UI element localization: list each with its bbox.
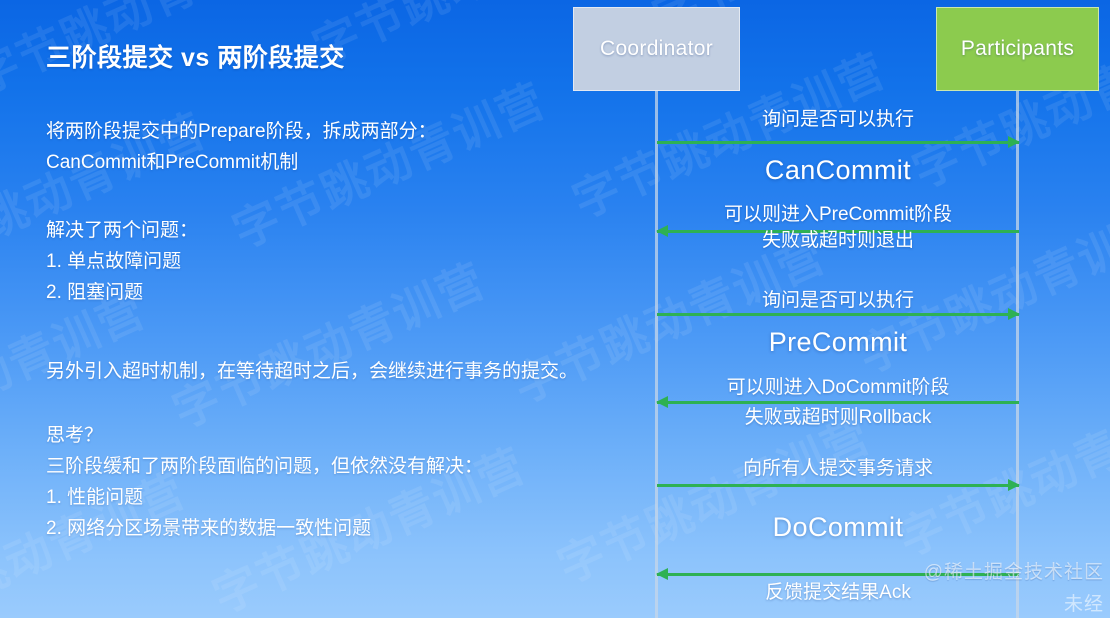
- phase-label-precommit: PreCommit: [657, 327, 1019, 358]
- intro-line-2: CanCommit和PreCommit机制: [46, 147, 437, 178]
- corner-watermark-line-1: @稀土掘金技术社区: [924, 557, 1104, 584]
- intro-line-1: 将两阶段提交中的Prepare阶段，拆成两部分：: [46, 116, 437, 147]
- open-questions-item-1: 1. 性能问题: [46, 482, 483, 513]
- timeout-paragraph: 另外引入超时机制，在等待超时之后，会继续进行事务的提交。: [46, 356, 578, 387]
- slide-canvas: 字节跳动青训营 字节跳动青训营 字节跳动青训营 字节跳动青训营 字节跳动青训营 …: [0, 0, 1110, 618]
- message-label-5: 向所有人提交事务请求: [657, 456, 1019, 482]
- message-label-1: 询问是否可以执行: [657, 107, 1019, 133]
- open-questions-item-2: 2. 网络分区场景带来的数据一致性问题: [46, 513, 483, 544]
- actor-label-participants: Participants: [961, 37, 1074, 61]
- solved-problems-item-1: 1. 单点故障问题: [46, 246, 198, 277]
- actor-box-coordinator: Coordinator: [573, 7, 740, 91]
- solved-problems-block: 解决了两个问题： 1. 单点故障问题 2. 阻塞问题: [46, 215, 198, 308]
- timeout-line-1: 另外引入超时机制，在等待超时之后，会继续进行事务的提交。: [46, 356, 578, 387]
- page-title: 三阶段提交 vs 两阶段提交: [46, 38, 345, 74]
- message-label-3: 询问是否可以执行: [657, 288, 1019, 314]
- message-label-4-line-1: 可以则进入DoCommit阶段: [657, 375, 1019, 401]
- sequence-diagram: Coordinator Participants 询问是否可以执行 CanCom…: [560, 0, 1110, 618]
- intro-paragraph: 将两阶段提交中的Prepare阶段，拆成两部分： CanCommit和PreCo…: [46, 116, 437, 178]
- open-questions-heading: 思考？: [46, 420, 483, 451]
- message-arrow-1: [657, 141, 1019, 144]
- message-label-2-line-1: 可以则进入PreCommit阶段: [657, 202, 1019, 228]
- solved-problems-heading: 解决了两个问题：: [46, 215, 198, 246]
- message-label-2-line-2: 失败或超时则退出: [657, 228, 1019, 254]
- phase-label-docommit: DoCommit: [657, 512, 1019, 543]
- left-text-column: 三阶段提交 vs 两阶段提交 将两阶段提交中的Prepare阶段，拆成两部分： …: [46, 0, 566, 618]
- actor-label-coordinator: Coordinator: [600, 37, 713, 61]
- solved-problems-item-2: 2. 阻塞问题: [46, 277, 198, 308]
- open-questions-line-1: 三阶段缓和了两阶段面临的问题，但依然没有解决：: [46, 451, 483, 482]
- actor-box-participants: Participants: [936, 7, 1099, 91]
- message-arrow-3: [657, 313, 1019, 316]
- message-arrow-5: [657, 484, 1019, 487]
- open-questions-block: 思考？ 三阶段缓和了两阶段面临的问题，但依然没有解决： 1. 性能问题 2. 网…: [46, 420, 483, 544]
- corner-watermark-line-2: 未经: [1064, 589, 1104, 616]
- message-arrow-4: [657, 401, 1019, 404]
- message-label-4-line-2: 失败或超时则Rollback: [657, 405, 1019, 431]
- phase-label-cancommit: CanCommit: [657, 155, 1019, 186]
